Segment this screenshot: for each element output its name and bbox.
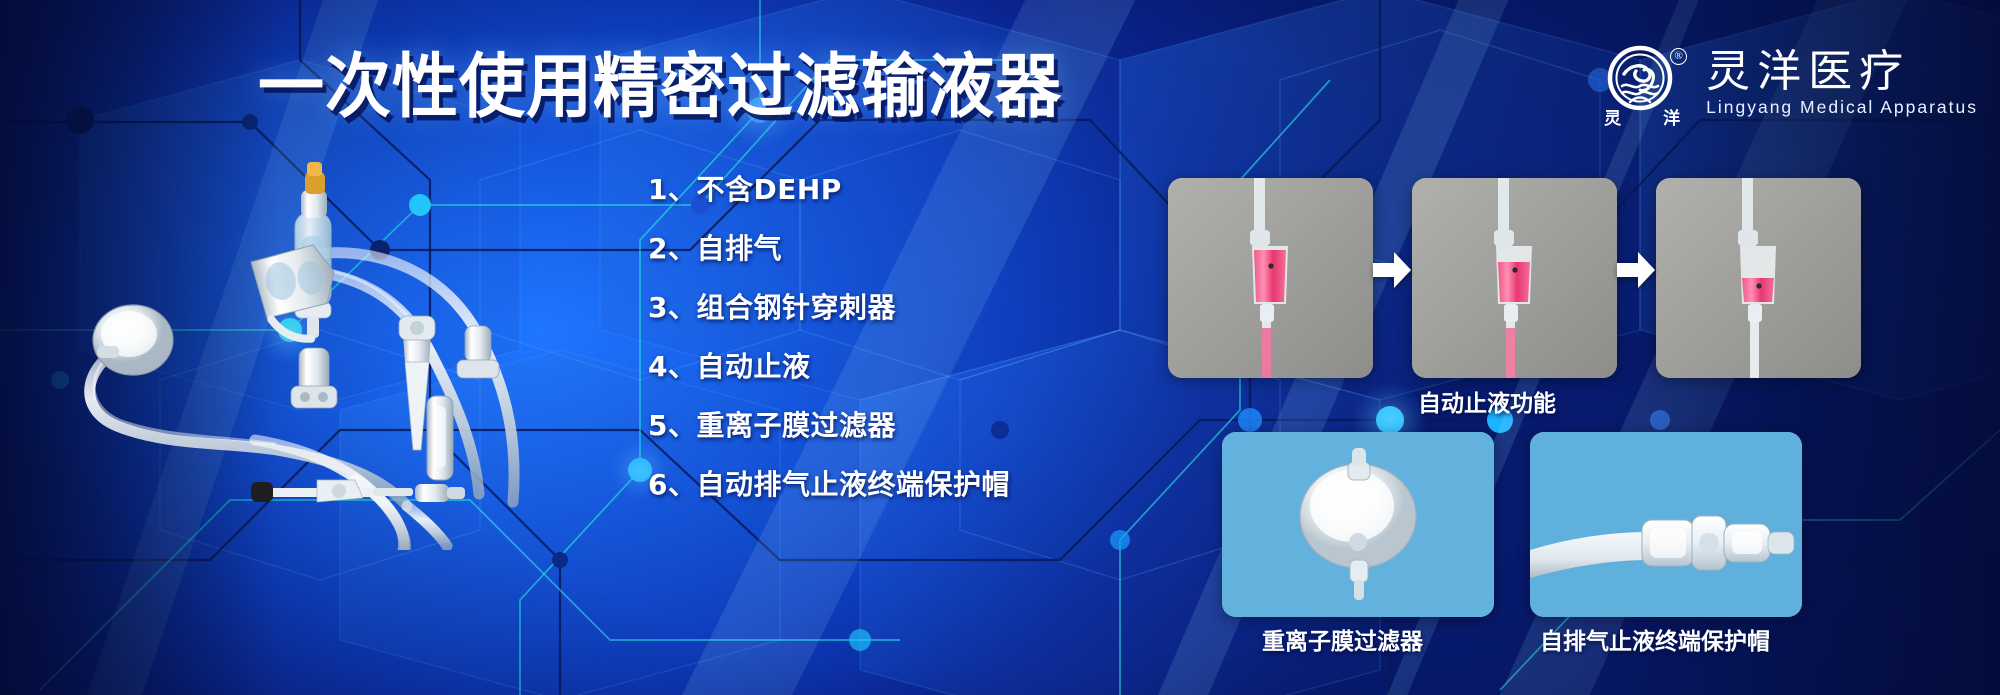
lingyang-seal-icon: ® 灵 洋 (1600, 40, 1684, 124)
caption-filter: 重离子膜过滤器 (1262, 629, 1423, 656)
brand-name-cn: 灵洋医疗 (1706, 48, 1978, 96)
photo-auto-stop-frame-2 (1412, 178, 1617, 378)
photo-auto-stop-frame-1 (1168, 178, 1373, 378)
registered-trademark-icon: ® (1670, 48, 1687, 65)
caption-auto-stop: 自动止液功能 (1418, 391, 1556, 418)
feature-item-1: 1、不含DEHP (648, 174, 988, 206)
feature-item-3: 3、组合钢针穿刺器 (648, 292, 988, 324)
photo-heavy-ion-membrane-filter (1222, 432, 1494, 617)
feature-item-4: 4、自动止液 (648, 351, 988, 383)
product-banner: 一次性使用精密过滤输液器 ® 灵 洋 灵洋医疗 Lingyang Medical… (0, 0, 2000, 695)
feature-item-2: 2、自排气 (648, 233, 988, 265)
brand-logo: ® 灵 洋 灵洋医疗 Lingyang Medical Apparatus (1600, 38, 1978, 126)
photo-terminal-protective-cap (1530, 432, 1802, 617)
arrow-right-icon (1371, 250, 1413, 290)
feature-item-6: 6、自动排气止液终端保护帽 (648, 469, 988, 501)
feature-list: 1、不含DEHP 2、自排气 3、组合钢针穿刺器 4、自动止液 5、重离子膜过滤… (648, 174, 988, 501)
logo-char-right: 洋 (1663, 104, 1680, 129)
feature-item-5: 5、重离子膜过滤器 (648, 410, 988, 442)
caption-protective-cap: 自排气止液终端保护帽 (1540, 629, 1770, 656)
brand-name-en: Lingyang Medical Apparatus (1706, 97, 1978, 117)
photo-auto-stop-frame-3 (1656, 178, 1861, 378)
product-photo-infusion-set (55, 150, 665, 550)
logo-char-left: 灵 (1604, 104, 1621, 129)
page-title: 一次性使用精密过滤输液器 (258, 46, 1038, 129)
arrow-right-icon (1615, 250, 1657, 290)
